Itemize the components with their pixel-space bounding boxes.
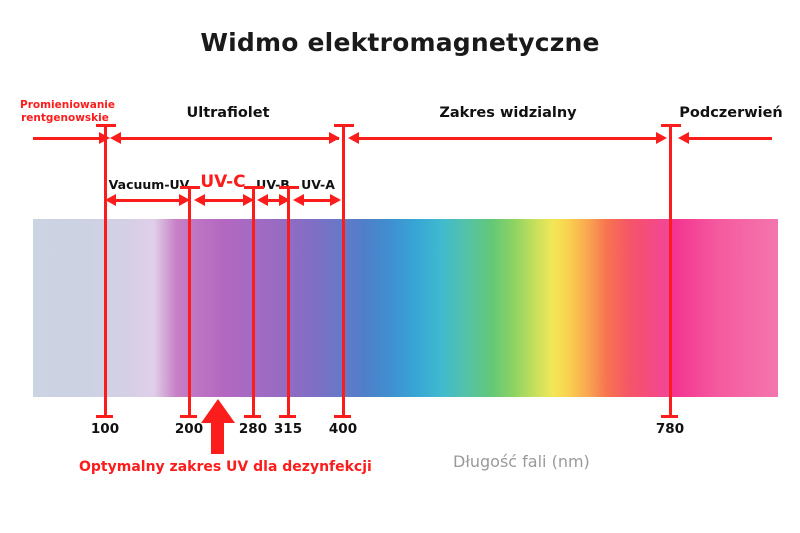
arrow-uv-c-line <box>202 199 248 202</box>
arrow-infrared-line <box>686 137 772 140</box>
tick-label-100: 100 <box>80 421 130 437</box>
optimal-uv-caption: Optymalny zakres UV dla dezynfekcji <box>79 459 372 475</box>
marker-line-315 <box>287 186 290 418</box>
marker-line-780 <box>669 124 672 418</box>
marker-cap-bottom-200 <box>180 415 197 418</box>
arrow-uv-head-left <box>110 132 121 144</box>
spectrum-gradient-infrared <box>670 219 778 397</box>
marker-cap-bottom-100 <box>96 415 113 418</box>
subband-label-uv-c: UV-C <box>192 172 254 192</box>
tick-label-200: 200 <box>164 421 214 437</box>
spectrum-bar <box>33 219 778 397</box>
tick-label-400: 400 <box>318 421 368 437</box>
subband-label-vacuum-uv: Vacuum-UV <box>108 177 190 192</box>
page-title: Widmo elektromagnetyczne <box>0 28 800 57</box>
band-label-xray-line1: Promieniowanie <box>20 99 110 112</box>
marker-line-100 <box>104 124 107 418</box>
arrow-uv-line <box>118 137 339 140</box>
arrow-uv-a-head-left <box>293 194 304 206</box>
arrow-visible-line <box>356 137 660 140</box>
band-label-uv: Ultrafiolet <box>118 105 338 121</box>
marker-cap-bottom-315 <box>279 415 296 418</box>
arrow-visible-head-right <box>656 132 667 144</box>
marker-cap-bottom-780 <box>661 415 678 418</box>
arrow-uv-c-head-left <box>194 194 205 206</box>
marker-line-280 <box>252 186 255 418</box>
subband-label-uv-a: UV-A <box>294 177 342 192</box>
arrow-uv-a-head-right <box>330 194 341 206</box>
arrow-infrared-head <box>678 132 689 144</box>
spectrum-infographic: Widmo elektromagnetyczne Promieniowanie … <box>0 0 800 533</box>
optimal-uv-arrow-shaft <box>211 422 224 454</box>
tick-label-780: 780 <box>645 421 695 437</box>
axis-caption: Długość fali (nm) <box>453 452 590 471</box>
arrow-vacuum-uv-line <box>113 199 183 202</box>
optimal-uv-arrow-head <box>201 399 235 423</box>
arrow-uv-b-head-left <box>257 194 268 206</box>
arrow-visible-head-left <box>348 132 359 144</box>
marker-cap-bottom-400 <box>334 415 351 418</box>
band-label-visible: Zakres widzialny <box>350 105 666 121</box>
marker-line-200 <box>188 186 191 418</box>
band-label-infrared: Podczerwień <box>676 105 786 121</box>
arrow-xray-line <box>33 137 101 140</box>
marker-cap-bottom-280 <box>244 415 261 418</box>
band-label-xray: Promieniowanie rentgenowskie <box>20 99 110 125</box>
arrow-uv-head-right <box>329 132 340 144</box>
spectrum-gradient-visible <box>33 219 670 397</box>
marker-line-400 <box>342 124 345 418</box>
tick-label-315: 315 <box>263 421 313 437</box>
